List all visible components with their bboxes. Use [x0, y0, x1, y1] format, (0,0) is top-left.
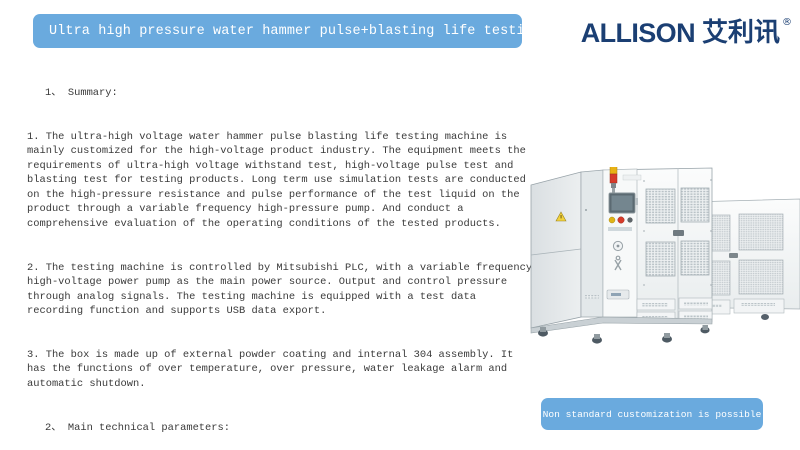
parameters-heading: 2、 Main technical parameters: — [27, 421, 537, 436]
summary-item: 2. The testing machine is controlled by … — [27, 261, 537, 319]
page-root: Ultra high pressure water hammer pulse+b… — [0, 0, 800, 450]
customization-badge: Non standard customization is possible — [541, 398, 763, 430]
product-description: 1、 Summary: 1. The ultra-high voltage wa… — [27, 57, 537, 450]
brand-logo: ALLISON 艾利讯 ® — [581, 20, 792, 47]
brand-logo-cjk: 艾利讯 — [702, 20, 780, 46]
summary-item: 3. The box is made up of external powder… — [27, 348, 537, 392]
brand-logo-latin: ALLISON — [581, 20, 695, 47]
page-title: Ultra high pressure water hammer pulse+b… — [49, 24, 607, 39]
registered-trademark-icon: ® — [782, 18, 792, 28]
page-title-banner: Ultra high pressure water hammer pulse+b… — [33, 14, 522, 48]
machine-cabinet-front — [531, 167, 712, 344]
summary-item: 1. The ultra-high voltage water hammer p… — [27, 130, 537, 232]
customization-badge-text: Non standard customization is possible — [543, 409, 762, 420]
product-photo — [527, 167, 800, 352]
summary-heading: 1、 Summary: — [27, 86, 537, 101]
